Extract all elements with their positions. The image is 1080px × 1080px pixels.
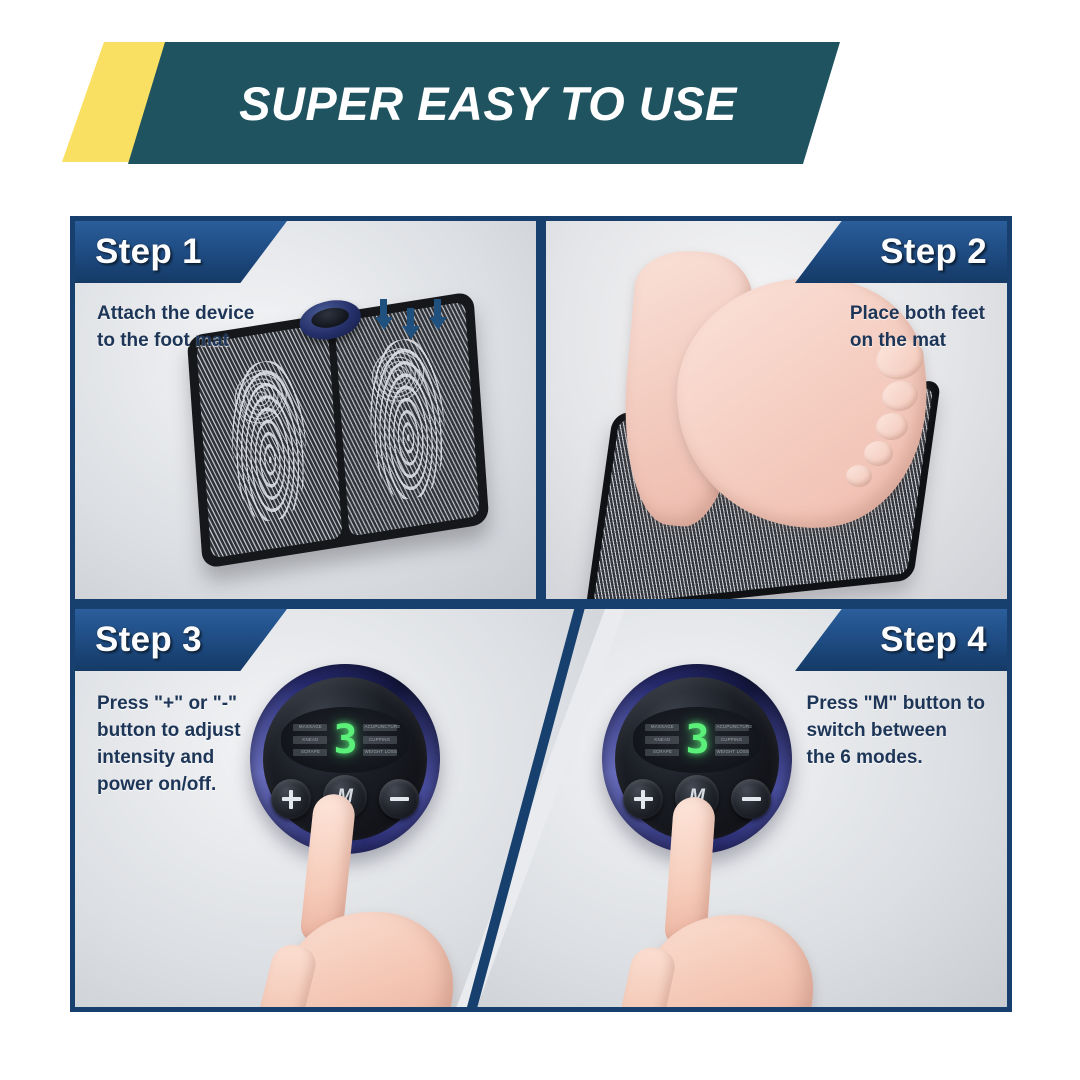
step-panel-1: Step 1 Attach the device to the foot mat	[75, 221, 536, 599]
arrow-down-icon	[429, 299, 445, 330]
lcd-label-scrape: SCRAPE	[645, 749, 679, 757]
step-4-caption-line-2: switch between	[807, 718, 985, 745]
step-2-caption-line-1: Place both feet	[850, 301, 985, 328]
device-lcd-display: MASSAGE KNEAD SCRAPE 3 ACUPUNCTURE CUPPI…	[633, 707, 761, 773]
increase-button[interactable]	[271, 779, 311, 819]
step-3-caption-line-1: Press "+" or "-"	[97, 691, 241, 718]
lcd-label-acupuncture: ACUPUNCTURE	[363, 724, 397, 732]
lcd-labels-left: MASSAGE KNEAD SCRAPE	[293, 724, 327, 757]
down-arrows-group	[375, 299, 445, 339]
lcd-label-weight-loss: WEIGHT LOSS	[715, 749, 749, 757]
arrow-down-icon	[402, 308, 418, 339]
lcd-label-weight-loss: WEIGHT LOSS	[363, 749, 397, 757]
lcd-label-knead: KNEAD	[293, 736, 327, 744]
page-title: SUPER EASY TO USE	[239, 76, 737, 131]
divider-horizontal	[75, 599, 1007, 609]
lcd-intensity-value: 3	[333, 722, 356, 759]
divider-vertical-top	[536, 221, 546, 599]
lcd-label-acupuncture: ACUPUNCTURE	[715, 724, 749, 732]
step-4-caption-line-3: the 6 modes.	[807, 745, 985, 772]
lcd-labels-right: ACUPUNCTURE CUPPING WEIGHT LOSS	[715, 724, 749, 757]
header-banner: SUPER EASY TO USE	[0, 0, 1080, 200]
arrow-down-icon	[375, 299, 391, 330]
step-tab-3-label: Step 3	[95, 620, 202, 660]
steps-grid: Step 1 Attach the device to the foot mat	[70, 216, 1012, 1012]
lcd-label-cupping: CUPPING	[363, 736, 397, 744]
infographic-root: SUPER EASY TO USE	[0, 0, 1080, 1080]
decrease-button[interactable]	[731, 779, 771, 819]
device-lcd-display: MASSAGE KNEAD SCRAPE 3 ACUPUNCTURE CUPPI…	[281, 707, 409, 773]
step-3-caption: Press "+" or "-" button to adjust intens…	[97, 691, 241, 799]
decrease-button[interactable]	[379, 779, 419, 819]
toe-5	[846, 465, 872, 487]
increase-button[interactable]	[623, 779, 663, 819]
lcd-label-massage: MASSAGE	[293, 724, 327, 732]
lcd-intensity-value: 3	[685, 722, 708, 759]
lcd-label-cupping: CUPPING	[715, 736, 749, 744]
step-1-caption-line-2: to the foot mat	[97, 328, 254, 355]
lcd-labels-left: MASSAGE KNEAD SCRAPE	[645, 724, 679, 757]
lcd-label-knead: KNEAD	[645, 736, 679, 744]
step-tab-1-label: Step 1	[95, 232, 202, 272]
step-2-caption: Place both feet on the mat	[850, 301, 985, 355]
step-2-caption-line-2: on the mat	[850, 328, 985, 355]
lcd-label-massage: MASSAGE	[645, 724, 679, 732]
step-panel-2: Step 2 Place both feet on the mat	[546, 221, 1007, 599]
step-tab-4-label: Step 4	[880, 620, 987, 660]
step-3-caption-line-2: button to adjust	[97, 718, 241, 745]
step-tab-2-label: Step 2	[880, 232, 987, 272]
banner-teal-shape: SUPER EASY TO USE	[128, 42, 840, 164]
lcd-label-scrape: SCRAPE	[293, 749, 327, 757]
step-3-caption-line-3: intensity and	[97, 745, 241, 772]
step-3-caption-line-4: power on/off.	[97, 772, 241, 799]
step-1-caption-line-1: Attach the device	[97, 301, 254, 328]
mat-left-foot-zone	[196, 323, 342, 558]
step-4-caption: Press "M" button to switch between the 6…	[807, 691, 985, 772]
lcd-labels-right: ACUPUNCTURE CUPPING WEIGHT LOSS	[363, 724, 397, 757]
step-4-caption-line-1: Press "M" button to	[807, 691, 985, 718]
step-1-caption: Attach the device to the foot mat	[97, 301, 254, 355]
